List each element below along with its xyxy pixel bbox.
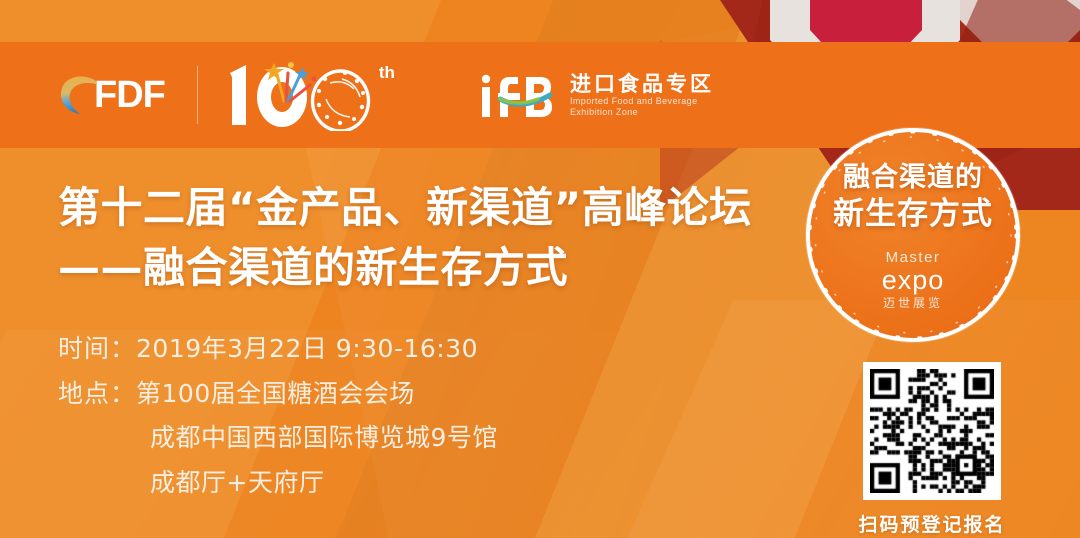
event-info-hall: 成都厅+天府厅 <box>58 461 758 506</box>
ifb-zone-text: 进口食品专区 Imported Food and Beverage Exhibi… <box>570 72 714 119</box>
event-info-venue-value: 第100届全国糖酒会会场 <box>136 379 415 408</box>
anniversary-mark: th <box>226 59 395 131</box>
anniversary-ordinal-suffix: th <box>379 63 395 83</box>
qr-code-frame[interactable] <box>863 362 1001 500</box>
ifb-mark-icon <box>478 71 560 119</box>
headline-line-2: ——融合渠道的新生存方式 <box>58 238 758 298</box>
cfdf-wordmark: FDF <box>94 76 165 114</box>
main-copy-block: 第十二届“金产品、新渠道”高峰论坛 ——融合渠道的新生存方式 时间：2019年3… <box>58 178 758 505</box>
qr-code-icon[interactable] <box>870 369 994 493</box>
ifb-zone-name-en-line2: Exhibition Zone <box>570 107 714 118</box>
logo-divider <box>197 66 198 124</box>
cfdf-swoosh-icon <box>56 72 100 118</box>
badge-circle: 融合渠道的 新生存方式 Master expo 迈世展览 <box>806 128 1020 342</box>
event-info-time: 时间：2019年3月22日 9:30-16:30 <box>58 327 758 372</box>
event-info-time-value: 2019年3月22日 9:30-16:30 <box>136 334 478 363</box>
headline-line-1: 第十二届“金产品、新渠道”高峰论坛 <box>58 178 758 238</box>
ifb-zone-name-en-line1: Imported Food and Beverage <box>570 96 714 107</box>
anniversary-100-icon <box>226 59 376 131</box>
badge-dashed-ring-icon <box>806 128 1020 342</box>
event-info-block: 时间：2019年3月22日 9:30-16:30 地点：第100届全国糖酒会会场… <box>58 327 758 505</box>
qr-caption: 扫码预登记报名 <box>852 510 1012 537</box>
event-info-time-label: 时间： <box>58 334 136 363</box>
event-info-venue: 地点：第100届全国糖酒会会场 <box>58 372 758 417</box>
ifb-zone-name-cn: 进口食品专区 <box>570 72 714 96</box>
cfdf-logo: FDF <box>56 66 165 124</box>
ifb-zone-logo: 进口食品专区 Imported Food and Beverage Exhibi… <box>478 42 714 148</box>
event-info-address: 成都中国西部国际博览城9号馆 <box>58 416 758 461</box>
qr-block[interactable]: 扫码预登记报名 <box>852 362 1012 537</box>
promo-banner: FDF <box>0 0 1080 538</box>
event-info-venue-label: 地点： <box>58 379 136 408</box>
